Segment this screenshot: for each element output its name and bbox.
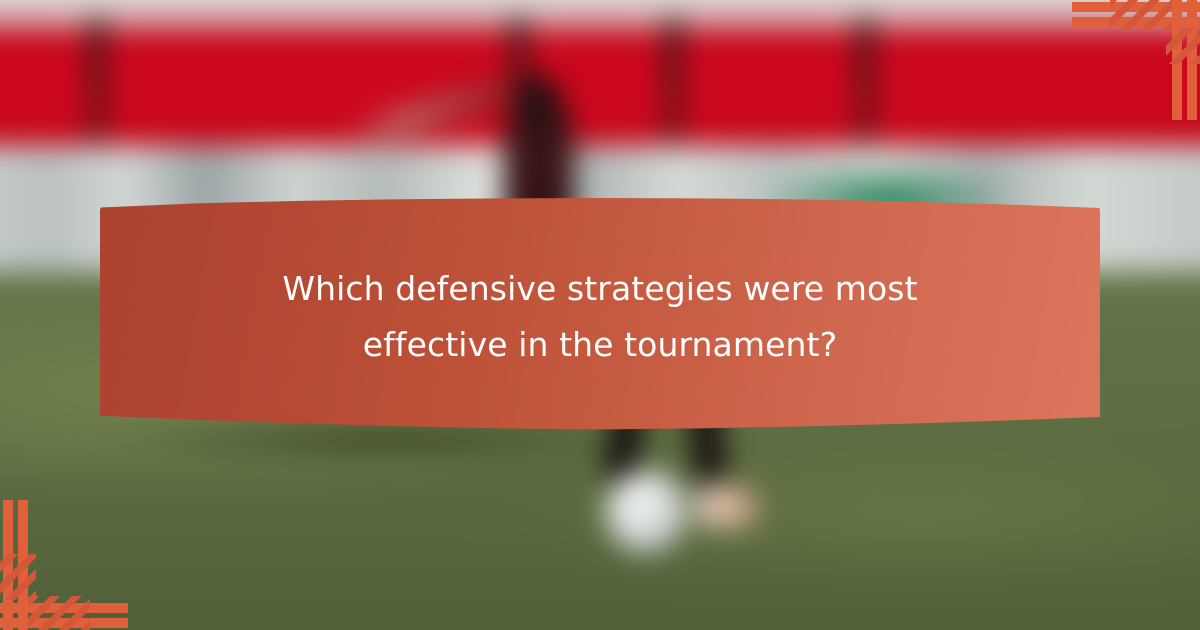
- hatch-pattern: [1110, 0, 1172, 30]
- football: [606, 471, 685, 553]
- question-line-1: Which defensive strategies were most: [282, 261, 917, 317]
- corner-decoration-bottom-left: [0, 470, 180, 630]
- hatch-pattern: [0, 554, 36, 600]
- hatch-pattern: [1166, 28, 1200, 64]
- hatch-pattern: [28, 596, 90, 630]
- question-banner: Which defensive strategies were most eff…: [100, 198, 1100, 436]
- corner-decoration-top-right: [1020, 0, 1200, 140]
- question-line-2: effective in the tournament?: [363, 317, 837, 373]
- player-head: [518, 74, 558, 120]
- screenshot-canvas: Which defensive strategies were most eff…: [0, 0, 1200, 630]
- question-text-block: Which defensive strategies were most eff…: [100, 198, 1100, 436]
